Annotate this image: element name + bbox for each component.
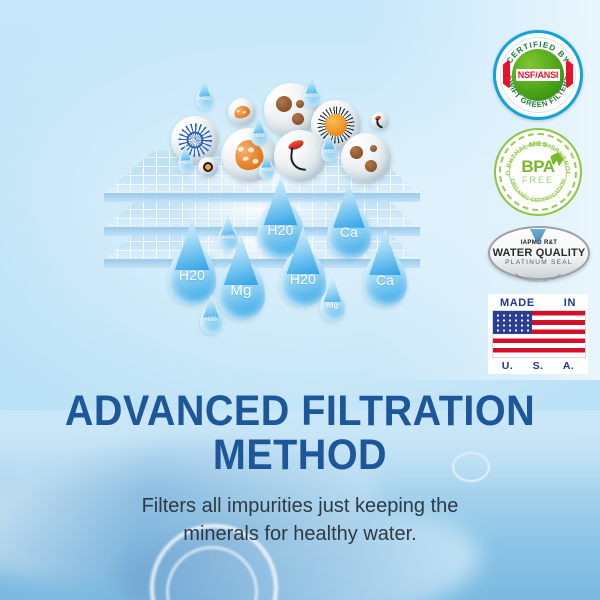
droplet-label: H20: [267, 222, 293, 238]
sediment-dot: [370, 145, 377, 152]
droplet-h2o-tiny-bottom: H20: [200, 306, 222, 334]
sediment-dot: [350, 146, 363, 159]
subtitle-line-2: minerals for healthy water.: [0, 520, 600, 548]
usa-flag-stars: [495, 313, 530, 332]
poster-canvas: H2O H2O H2O H2O H2O H2O H20 Ca H20 H20 M…: [0, 0, 600, 600]
certification-badges: CERTIFIED BY SWIFT GREEN FILTERS NSF/ANS…: [486, 30, 590, 382]
droplet-label: Ca: [340, 224, 358, 240]
droplet-label: H2O: [180, 160, 191, 166]
sediment-dot: [292, 113, 304, 125]
membrane-edge-1: [104, 193, 420, 202]
droplet-label: H2O: [306, 93, 317, 99]
bpa-line-1: BPA: [521, 159, 554, 175]
droplet-label: H20: [290, 271, 316, 287]
bacteria-speck: [242, 156, 249, 162]
micro-tail: [376, 119, 384, 129]
droplet-label: H2O: [199, 96, 210, 102]
bacteria-speck: [248, 147, 255, 153]
nsf-center-label: NSF/ANSI: [516, 69, 560, 81]
bacteria-speck: [242, 111, 246, 114]
droplet-label: H20: [222, 235, 234, 241]
title-line-2: METHOD: [24, 433, 576, 477]
micro-organism-icon: [375, 116, 385, 126]
droplet-label: H2O: [324, 149, 335, 155]
badge-made-in-usa: MADE IN U. S. A.: [486, 294, 590, 374]
contaminant-bacteria-small-orange: [228, 98, 256, 126]
bpa-line-2: FREE: [522, 175, 554, 185]
iapmo-line-1: WATER QUALITY: [493, 247, 586, 259]
droplet-filtered-h2o: H2O: [196, 88, 213, 110]
droplet-h2o-tiny-membrane: H20: [218, 225, 238, 251]
sediment-dot: [365, 160, 377, 172]
svg-text:IAPMO RESEARCH AND TESTING: IAPMO RESEARCH AND TESTING: [514, 272, 562, 283]
contaminant-bacteria-flagellate-red: [274, 130, 326, 182]
cyst-core-icon: [203, 162, 213, 172]
contaminant-sediment-particles-brown-2: [341, 133, 391, 183]
usa-flag-canton: [493, 311, 532, 334]
usa-u-label: U.: [502, 360, 513, 372]
flagellate-tail: [289, 147, 308, 171]
title-line-1: ADVANCED FILTRATION: [65, 387, 535, 435]
usa-a-label: A.: [563, 360, 574, 372]
bacteria-speck: [236, 109, 240, 112]
iapmo-arc-text: IAPMO RESEARCH AND TESTING: [486, 272, 590, 286]
badge-iapmo-water-quality: IAPMO R&T WATER QUALITY PLATINUM SEAL IA…: [486, 224, 590, 286]
usa-made-label: MADE: [500, 297, 535, 309]
droplet-filtered-h2o: H2O: [251, 125, 267, 146]
droplet-label: Ca: [376, 272, 394, 288]
contaminant-micro-organism-tiny: [371, 112, 389, 130]
droplet-filtered-h2o: H2O: [178, 153, 193, 173]
iapmo-line-2: PLATINUM SEAL: [505, 259, 573, 267]
usa-made-in-row: MADE IN: [492, 297, 584, 310]
iapmo-seal: IAPMO R&T WATER QUALITY PLATINUM SEAL IA…: [486, 224, 590, 286]
sediment-dot: [276, 96, 292, 112]
droplet-label: Mg: [230, 282, 251, 299]
badge-nsf-ansi: CERTIFIED BY SWIFT GREEN FILTERS NSF/ANS…: [486, 30, 590, 120]
droplet-filtered-h2o: H2O: [259, 160, 274, 180]
droplet-mg-small: Mg: [320, 289, 345, 321]
bacteria-speck: [252, 159, 259, 165]
page-title: ADVANCED FILTRATION METHOD: [24, 389, 576, 477]
nsf-core: NSF/ANSI: [512, 49, 564, 101]
usa-flag-icon: [492, 310, 586, 358]
flagellate-icon: [288, 141, 312, 171]
droplet-label: H20: [179, 267, 205, 283]
bpa-inner: BPA FREE: [509, 143, 567, 201]
usa-in-label: IN: [564, 297, 576, 309]
subtitle-line-1: Filters all impurities just keeping the: [0, 492, 600, 520]
droplet-filtered-h2o: H2O: [303, 85, 320, 107]
usa-usa-row: U. S. A.: [492, 358, 584, 372]
badge-bpa-free: NO PHTHALATES NO BISPHENOL-A ORGANIC CER…: [486, 128, 590, 216]
nsf-seal: CERTIFIED BY SWIFT GREEN FILTERS NSF/ANS…: [493, 30, 583, 120]
droplet-label: H2O: [261, 167, 272, 173]
contaminant-cyst-small-orange: [198, 157, 218, 177]
droplet-label: Mg: [327, 301, 339, 310]
usa-seal: MADE IN U. S. A.: [488, 294, 588, 374]
droplet-filtered-h2o: H2O: [321, 141, 337, 162]
page-subtitle: Filters all impurities just keeping the …: [0, 492, 600, 548]
droplet-label: H2O: [254, 133, 265, 139]
bpa-seal: NO PHTHALATES NO BISPHENOL-A ORGANIC CER…: [494, 128, 582, 216]
usa-s-label: S.: [533, 360, 544, 372]
droplet-label: H20: [205, 317, 217, 323]
bacteria-speck: [237, 146, 244, 152]
bacteria-rod-icon: [233, 104, 252, 120]
